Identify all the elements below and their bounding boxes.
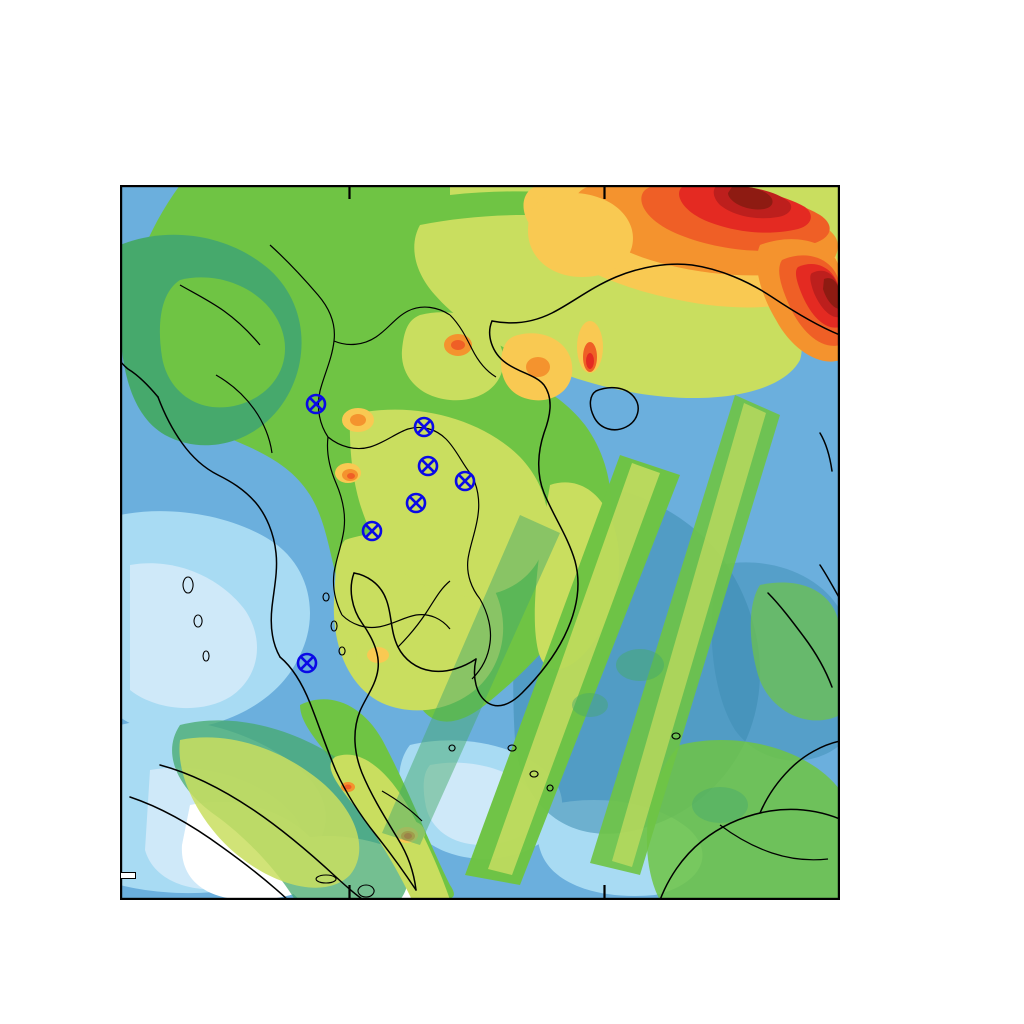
- colorbar[interactable]: [874, 186, 920, 898]
- right-minor-ticks: [840, 185, 858, 900]
- figure-root: [0, 0, 1024, 1024]
- left-minor-ticks: [102, 185, 120, 900]
- map-canvas: [120, 185, 840, 900]
- model-annotation: [120, 872, 136, 879]
- top-minor-ticks: [120, 169, 840, 185]
- map-plot-area[interactable]: [120, 185, 840, 900]
- contour-field: [120, 185, 840, 900]
- bottom-minor-ticks: [120, 900, 840, 918]
